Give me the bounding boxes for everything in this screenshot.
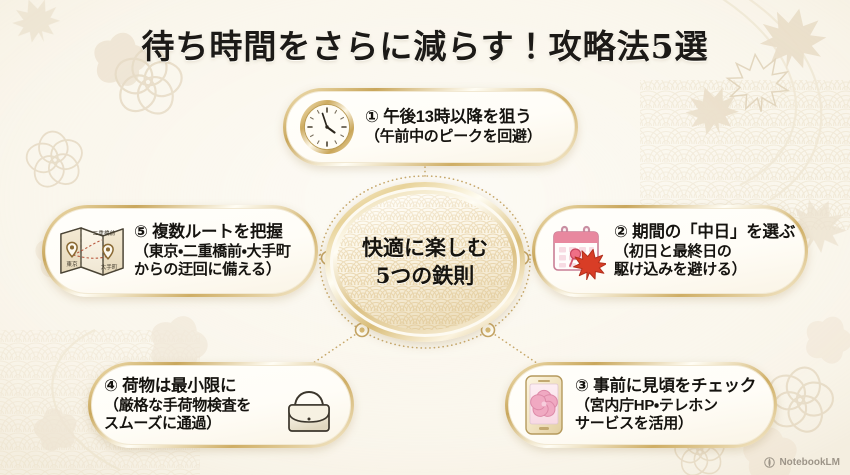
watermark-label: NotebookLM: [779, 457, 840, 468]
item-card-1[interactable]: ① 午後13時以降を狙う （午前中のピークを回避）: [283, 88, 578, 166]
item-4-line-2: （厳格な手荷物検査を: [104, 397, 272, 415]
item-card-5[interactable]: 東京 二重橋前 大手町 ⑤ 複数ルートを把握 （東京・二重橋前・大手町 からの迂…: [42, 205, 318, 297]
map-label-tokyo: 東京: [66, 260, 78, 268]
item-2-line-3: 駆け込みを避ける）: [614, 261, 795, 279]
item-5-line-3: からの迂回に備える）: [134, 261, 291, 279]
map-label-otemachi: 大手町: [101, 263, 118, 271]
smartphone-sakura-icon: [521, 374, 567, 436]
center-label: 快適に楽しむ 5つの鉄則: [337, 194, 513, 330]
item-1-text: ① 午後13時以降を狙う （午前中のピークを回避）: [365, 108, 541, 146]
map-label-nijubashimae: 二重橋前: [93, 229, 116, 237]
item-3-text: ③ 事前に見頃をチェック （宮内庁HP・テレホン サービスを活用）: [575, 377, 756, 433]
item-3-line-1: ③ 事前に見頃をチェック: [575, 377, 756, 397]
item-5-line-1: ⑤ 複数ルートを把握: [134, 223, 291, 243]
item-5-line-2: （東京・二重橋前・大手町: [134, 243, 291, 261]
center-line-2: 5つの鉄則: [376, 264, 475, 289]
item-2-line-2: （初日と最終日の: [614, 243, 795, 261]
item-4-line-1: ④ 荷物は最小限に: [104, 377, 272, 397]
item-2-line-1: ② 期間の「中日」を選ぶ: [614, 223, 795, 243]
item-5-text: ⑤ 複数ルートを把握 （東京・二重橋前・大手町 からの迂回に備える）: [134, 223, 291, 279]
item-3-line-2: （宮内庁HP・テレホン: [575, 397, 756, 415]
item-card-2[interactable]: ② 期間の「中日」を選ぶ （初日と最終日の 駆け込みを避ける）: [532, 205, 808, 297]
center-line-1: 快適に楽しむ: [362, 236, 488, 261]
item-4-line-3: スムーズに通過）: [104, 415, 272, 433]
item-1-line-1: ① 午後13時以降を狙う: [365, 108, 541, 128]
folded-map-icon: 東京 二重橋前 大手町: [58, 222, 126, 280]
item-2-text: ② 期間の「中日」を選ぶ （初日と最終日の 駆け込みを避ける）: [614, 223, 795, 279]
calendar-maple-icon: [548, 222, 606, 280]
watermark: NotebookLM: [764, 457, 840, 468]
item-card-3[interactable]: ③ 事前に見頃をチェック （宮内庁HP・テレホン サービスを活用）: [505, 362, 777, 448]
item-1-line-2: （午前中のピークを回避）: [365, 128, 541, 146]
handbag-icon: [280, 375, 338, 435]
item-3-line-3: サービスを活用）: [575, 415, 756, 433]
infographic-canvas: 待ち時間をさらに減らす！攻略法5選: [0, 0, 850, 475]
notebooklm-logo-icon: [764, 457, 775, 468]
page-title: 待ち時間をさらに減らす！攻略法5選: [0, 20, 850, 68]
item-card-4[interactable]: ④ 荷物は最小限に （厳格な手荷物検査を スムーズに通過）: [88, 362, 354, 448]
clock-icon: [297, 97, 357, 157]
item-4-text: ④ 荷物は最小限に （厳格な手荷物検査を スムーズに通過）: [104, 377, 272, 433]
center-medallion: 快適に楽しむ 5つの鉄則: [325, 182, 525, 342]
